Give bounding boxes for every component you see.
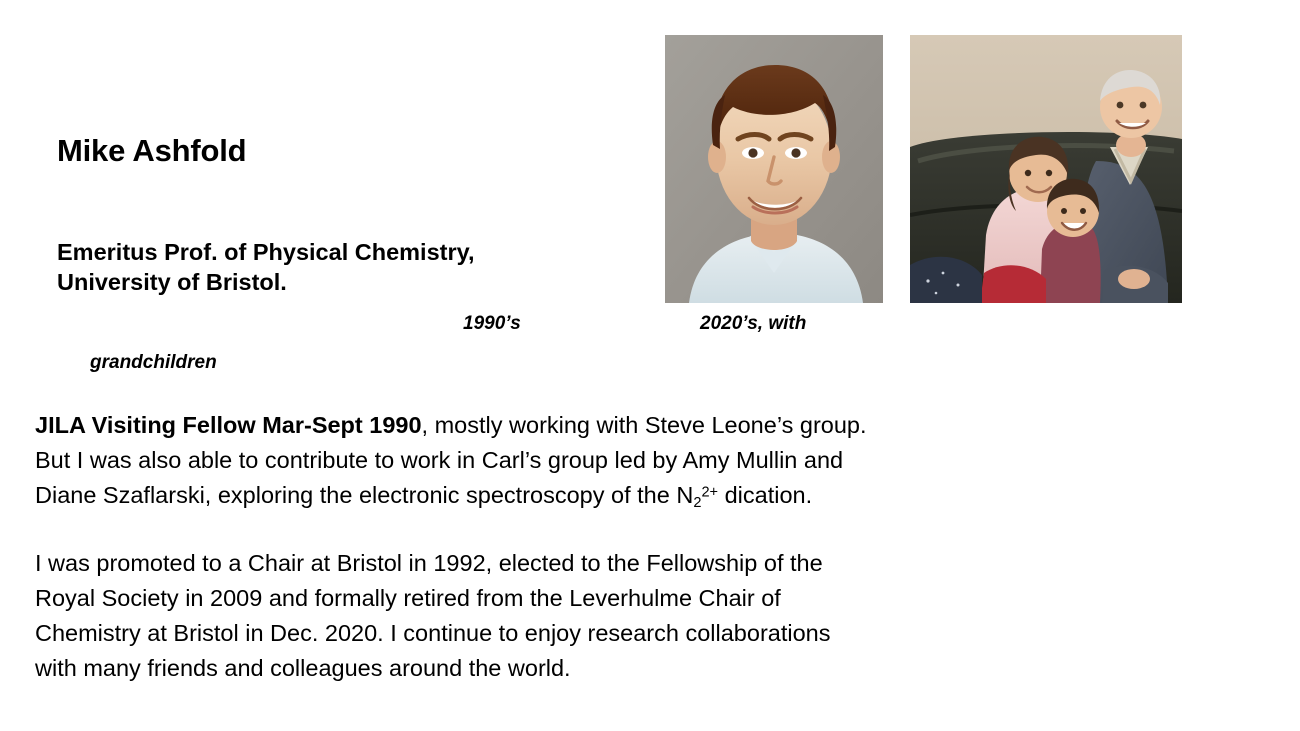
affiliation-block: Emeritus Prof. of Physical Chemistry, Un… <box>57 237 657 297</box>
paragraph-jila-line-3: Diane Szaflarski, exploring the electron… <box>35 478 1205 513</box>
jila-line-1-rest: , mostly working with Steve Leone’s grou… <box>422 412 867 438</box>
paragraph-career-line-4: with many friends and colleagues around … <box>35 651 1205 686</box>
jila-line-3-tail: dication. <box>718 482 812 508</box>
paragraph-jila-line-1: JILA Visiting Fellow Mar-Sept 1990, most… <box>35 408 1205 443</box>
affiliation-line-1: Emeritus Prof. of Physical Chemistry, <box>57 237 657 267</box>
jila-fellowship-bold: JILA Visiting Fellow Mar-Sept 1990 <box>35 412 422 438</box>
paragraph-career-line-2: Royal Society in 2009 and formally retir… <box>35 581 1205 616</box>
paragraph-jila: JILA Visiting Fellow Mar-Sept 1990, most… <box>35 408 1205 513</box>
caption-grandchildren: grandchildren <box>90 352 217 374</box>
formula-superscript: 2+ <box>701 484 718 500</box>
slide-canvas: Mike Ashfold Emeritus Prof. of Physical … <box>0 0 1300 731</box>
page-title: Mike Ashfold <box>57 134 246 168</box>
photo-portrait-1990s <box>665 35 883 303</box>
paragraph-career-line-3: Chemistry at Bristol in Dec. 2020. I con… <box>35 616 1205 651</box>
paragraph-career-line-1: I was promoted to a Chair at Bristol in … <box>35 546 1205 581</box>
paragraph-career: I was promoted to a Chair at Bristol in … <box>35 546 1205 686</box>
caption-1990s: 1990’s <box>463 313 521 335</box>
formula-element: N <box>676 482 693 508</box>
photo-family-2020s <box>910 35 1182 303</box>
caption-2020s: 2020’s, with <box>700 313 806 335</box>
jila-line-3-text: Diane Szaflarski, exploring the electron… <box>35 482 676 508</box>
portrait-illustration <box>665 35 883 303</box>
affiliation-line-2: University of Bristol. <box>57 267 657 297</box>
formula-nitrogen-dication: N22+ <box>676 482 718 508</box>
family-illustration <box>910 35 1182 303</box>
paragraph-jila-line-2: But I was also able to contribute to wor… <box>35 443 1205 478</box>
